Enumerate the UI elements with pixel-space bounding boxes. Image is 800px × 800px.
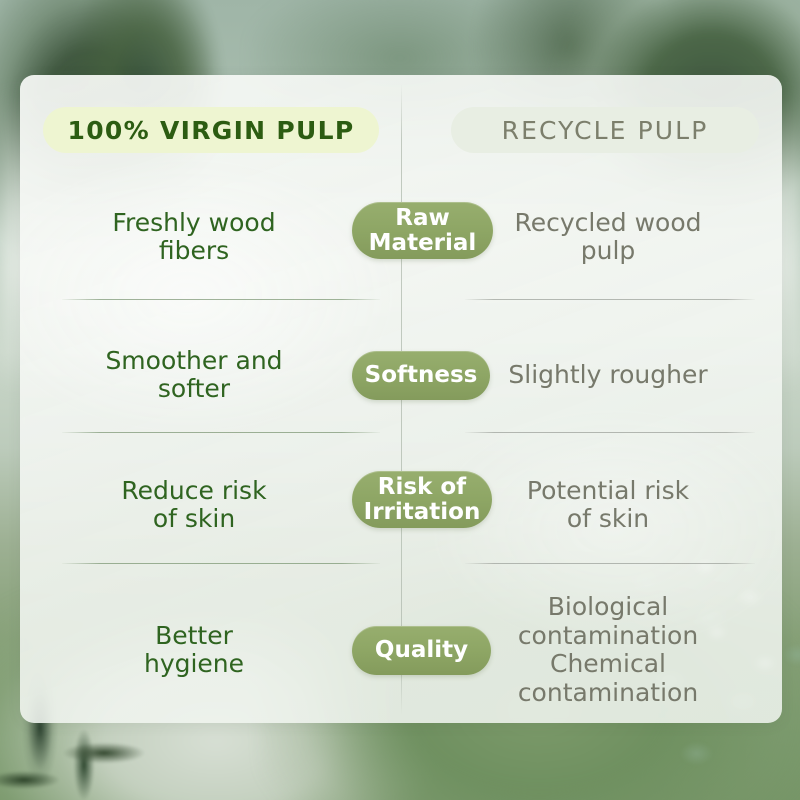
cell-text: Recycled wood pulp [515, 209, 702, 266]
cell-text: Freshly wood fibers [112, 209, 275, 266]
cell-text: Potential risk of skin [527, 477, 689, 534]
column-header-virgin-pulp: 100% VIRGIN PULP [43, 107, 379, 153]
column-header-recycle-pulp: RECYCLE PULP [451, 107, 759, 153]
cell-text: Better hygiene [144, 622, 244, 679]
table-row: Reduce risk of skin Risk of Irritation P… [20, 467, 782, 543]
comparison-grid: 100% VIRGIN PULP RECYCLE PULP Freshly wo… [20, 75, 782, 723]
row-quality-right-value: Biological contamination Chemical contam… [458, 595, 758, 705]
table-row: Smoother and softer Softness Slightly ro… [20, 337, 782, 413]
row-raw-material-left-value: Freshly wood fibers [44, 199, 344, 275]
comparison-card: 100% VIRGIN PULP RECYCLE PULP Freshly wo… [20, 75, 782, 723]
row-divider-left [62, 432, 380, 433]
row-divider-right [465, 432, 755, 433]
row-softness-right-value: Slightly rougher [458, 337, 758, 413]
row-softness-left-value: Smoother and softer [44, 337, 344, 413]
row-divider-left [62, 299, 380, 300]
pill-text: Quality [375, 638, 468, 662]
row-quality-left-value: Better hygiene [44, 595, 344, 705]
table-row: Better hygiene Quality Biological contam… [20, 595, 782, 705]
row-risk-of-irritation-right-value: Potential risk of skin [458, 467, 758, 543]
row-risk-of-irritation-left-value: Reduce risk of skin [44, 467, 344, 543]
row-raw-material-right-value: Recycled wood pulp [458, 199, 758, 275]
cell-text: Slightly rougher [508, 361, 707, 390]
cell-text: Smoother and softer [105, 347, 282, 404]
row-divider-right [465, 299, 755, 300]
header-row: 100% VIRGIN PULP RECYCLE PULP [20, 107, 782, 157]
cell-text: Reduce risk of skin [121, 477, 266, 534]
row-divider-right [465, 563, 755, 564]
table-row: Freshly wood fibers Raw Material Recycle… [20, 199, 782, 275]
row-divider-left [62, 563, 380, 564]
cell-text: Biological contamination Chemical contam… [518, 593, 698, 707]
